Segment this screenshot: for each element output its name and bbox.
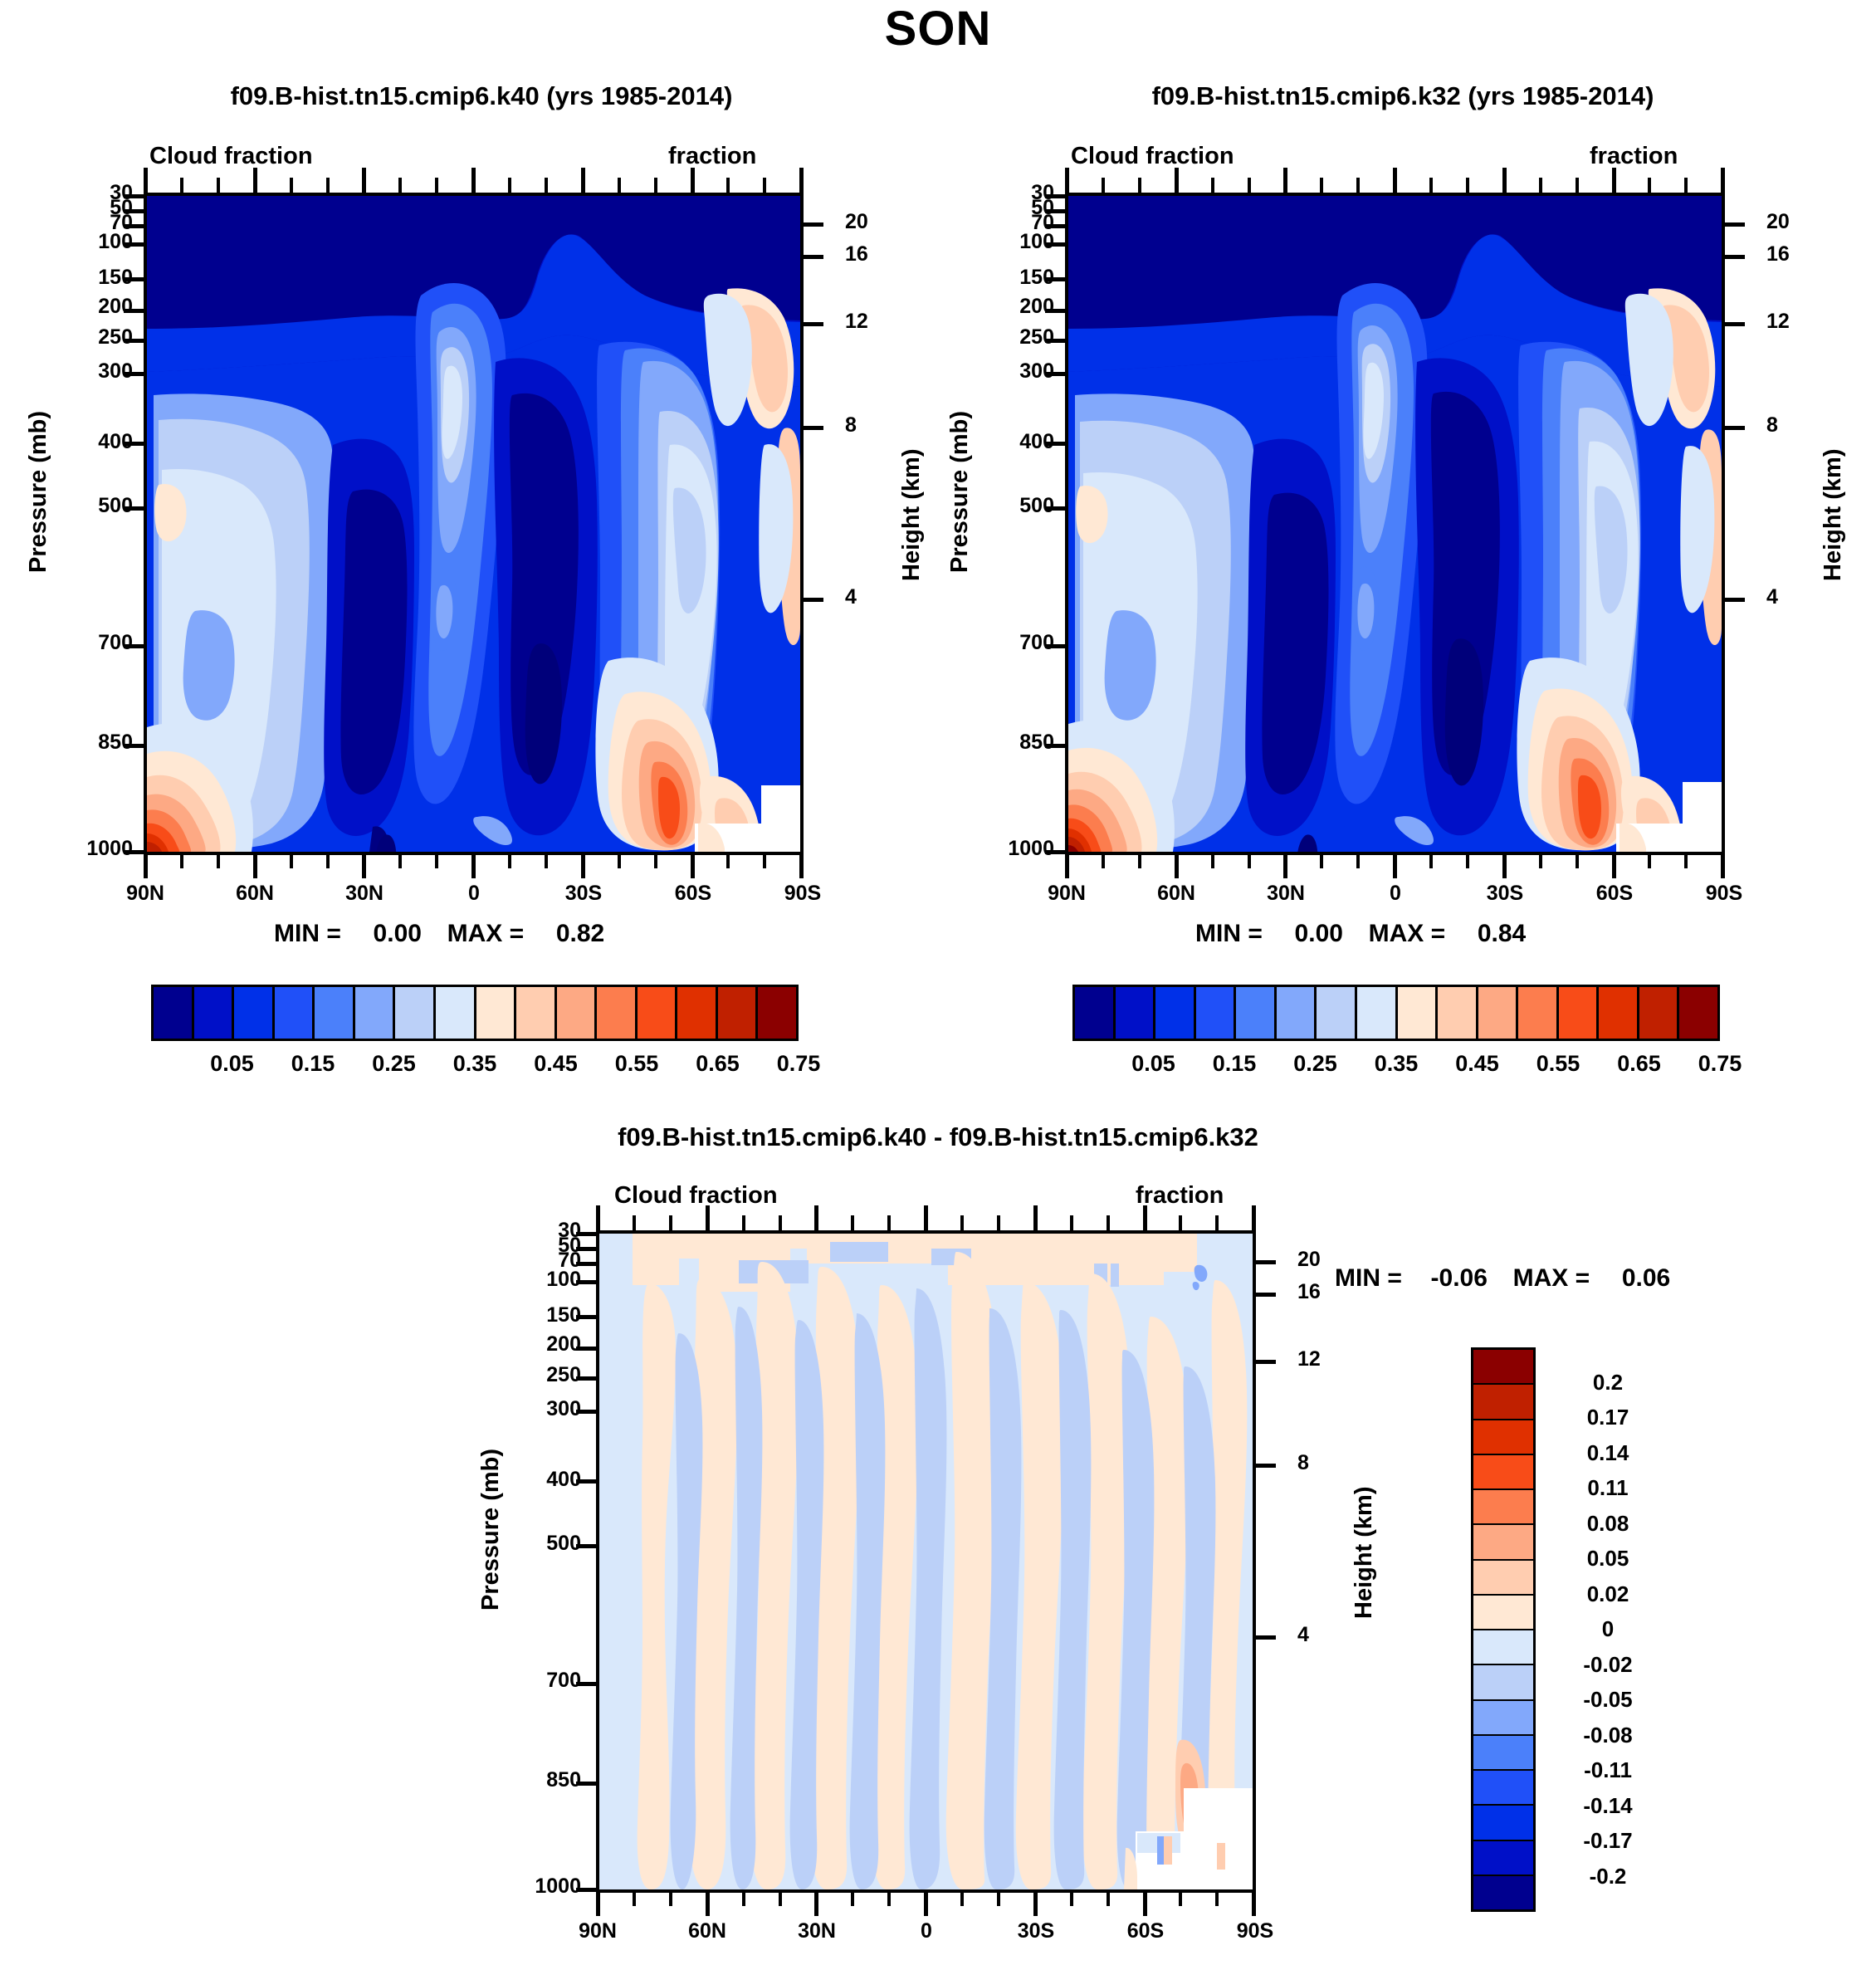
axis-tick (1356, 178, 1360, 193)
page-title: SON (0, 3, 1876, 55)
axis-tick (435, 178, 438, 193)
min-value-left: 0.00 (374, 920, 422, 947)
colorbar-cell (1473, 1420, 1533, 1455)
x-tick-60N-right: 60N (1131, 882, 1222, 906)
colorbar-cell (154, 987, 194, 1039)
axis-tick (596, 1893, 599, 1906)
x-tick-90N-diff: 90N (552, 1919, 643, 1943)
axis-tick (1466, 855, 1469, 868)
axis-tick (1175, 178, 1178, 193)
axis-tick (180, 855, 183, 868)
axis-tick (1283, 168, 1287, 193)
axis-tick (618, 178, 621, 193)
contour-plot-diff (596, 1230, 1256, 1893)
axis-tick (1065, 855, 1069, 878)
y-tick-250-diff: 250 (498, 1363, 581, 1387)
variable-label-right: Cloud fraction (1071, 143, 1234, 170)
axis-tick (545, 178, 548, 193)
axis-tick (1256, 1260, 1276, 1264)
axis-tick (799, 855, 803, 868)
colorbar-cell (758, 987, 796, 1039)
axis-tick (1648, 178, 1651, 193)
colorbar-cell (1357, 987, 1398, 1039)
axis-tick (1143, 1893, 1146, 1906)
axis-tick (814, 1893, 818, 1906)
units-label-diff: fraction (1136, 1182, 1224, 1210)
axis-tick (1033, 1893, 1037, 1906)
axis-tick (1070, 1893, 1073, 1906)
axis-tick (290, 178, 293, 193)
colorbar-cell (315, 987, 355, 1039)
axis-tick (253, 178, 256, 193)
y2-tick-20-diff: 20 (1297, 1248, 1321, 1272)
axis-tick (1179, 1215, 1182, 1230)
colorbar-left-labels: 0.050.150.250.350.450.550.650.75 (151, 1051, 799, 1079)
axis-tick (1175, 855, 1178, 868)
axis-tick (1256, 1464, 1276, 1468)
colorbar-cell (718, 987, 759, 1039)
axis-tick (1725, 598, 1745, 602)
units-label-left: fraction (668, 143, 756, 170)
panel-title-left: f09.B-hist.tn15.cmip6.k40 (yrs 1985-2014… (33, 81, 930, 111)
colorbar-cell (234, 987, 275, 1039)
colorbar-cell (557, 987, 598, 1039)
colorbar-cell (1473, 1806, 1533, 1840)
colorbar-cell (1236, 987, 1277, 1039)
axis-tick (1502, 855, 1506, 868)
colorbar-cell (1473, 1490, 1533, 1525)
axis-tick (960, 1893, 964, 1906)
axis-tick (804, 426, 823, 430)
colorbar-cell (1478, 987, 1519, 1039)
max-value-left: 0.82 (556, 920, 604, 947)
axis-tick (471, 855, 475, 868)
colorbar-cell (638, 987, 678, 1039)
axis-tick (1175, 855, 1179, 878)
axis-tick (1612, 168, 1616, 193)
axis-tick (742, 1215, 745, 1230)
axis-tick (1648, 855, 1651, 868)
y-tick-400-left: 400 (50, 430, 133, 454)
y2-tick-16-left: 16 (845, 242, 868, 266)
axis-tick (471, 178, 475, 193)
colorbar-cell (1599, 987, 1639, 1039)
axis-tick (581, 855, 585, 878)
axis-tick (1502, 178, 1506, 193)
axis-tick (1721, 855, 1724, 868)
axis-tick (1065, 178, 1068, 193)
axis-tick (1033, 1215, 1037, 1230)
axis-tick (1393, 855, 1397, 878)
y-tick-700-left: 700 (50, 631, 133, 655)
max-value-right: 0.84 (1478, 920, 1526, 947)
axis-tick (1356, 855, 1360, 868)
colorbar-cell (1473, 1455, 1533, 1490)
colorbar-right-labels: 0.050.150.250.350.450.550.650.75 (1072, 1051, 1720, 1079)
colorbar-tick-label: -0.02 (1546, 1652, 1670, 1678)
axis-tick (398, 178, 402, 193)
axis-tick (1256, 1293, 1276, 1297)
axis-tick (1070, 1215, 1073, 1230)
axis-tick (581, 178, 584, 193)
axis-tick (144, 168, 148, 193)
colorbar-cell (355, 987, 396, 1039)
colorbar-cell (516, 987, 557, 1039)
axis-tick (804, 322, 823, 326)
axis-tick (814, 1215, 818, 1230)
panel-title-right: f09.B-hist.tn15.cmip6.k32 (yrs 1985-2014… (955, 81, 1851, 111)
colorbar-cell (436, 987, 476, 1039)
axis-tick (471, 168, 476, 193)
axis-tick (1215, 1215, 1219, 1230)
y-tick-1000-right: 1000 (961, 837, 1054, 861)
axis-tick (924, 1205, 928, 1230)
axis-tick (1143, 1215, 1146, 1230)
y2-tick-8-right: 8 (1766, 413, 1778, 437)
y-tick-150-diff: 150 (498, 1303, 581, 1327)
y2-tick-20-right: 20 (1766, 210, 1790, 234)
colorbar-cell (1116, 987, 1156, 1039)
axis-tick (997, 1893, 1000, 1906)
axis-tick (654, 178, 657, 193)
min-label-diff: MIN = (1335, 1264, 1402, 1292)
axis-tick (799, 178, 803, 193)
axis-tick (1033, 1893, 1038, 1916)
axis-tick (887, 1215, 891, 1230)
y2-tick-20-left: 20 (845, 210, 868, 234)
x-tick-90S-right: 90S (1678, 882, 1770, 906)
colorbar-tick-label: -0.2 (1546, 1864, 1670, 1889)
colorbar-tick-label: 0.02 (1546, 1581, 1670, 1607)
y-tick-500-left: 500 (50, 494, 133, 518)
axis-tick (581, 855, 584, 868)
contour-canvas-right (1068, 196, 1722, 852)
colorbar-tick-label: 0.14 (1546, 1440, 1670, 1466)
axis-tick (1725, 426, 1745, 430)
y-axis-title-right: Pressure (mb) (946, 411, 974, 573)
axis-tick (1429, 178, 1433, 193)
axis-tick (1248, 855, 1251, 868)
max-label-left: MAX = (447, 920, 525, 947)
colorbar-cell (1473, 1350, 1533, 1385)
y-tick-250-right: 250 (971, 325, 1054, 349)
colorbar-tick-label: -0.11 (1546, 1757, 1670, 1783)
axis-tick (1102, 178, 1105, 193)
axis-tick (654, 855, 657, 868)
axis-tick (596, 1215, 599, 1230)
axis-tick (1539, 178, 1542, 193)
x-tick-30S-right: 30S (1459, 882, 1551, 906)
axis-tick (851, 1215, 854, 1230)
x-tick-90N-left: 90N (100, 882, 191, 906)
colorbar-left[interactable] (151, 985, 799, 1041)
x-tick-30N-right: 30N (1240, 882, 1331, 906)
y2-tick-8-left: 8 (845, 413, 857, 437)
x-tick-60S-left: 60S (647, 882, 739, 906)
axis-tick (1393, 178, 1396, 193)
x-tick-60S-right: 60S (1569, 882, 1660, 906)
y-tick-400-right: 400 (971, 430, 1054, 454)
colorbar-cell (1473, 1736, 1533, 1771)
colorbar-tick-label: 0.11 (1546, 1475, 1670, 1501)
axis-tick (1320, 855, 1323, 868)
axis-tick (726, 178, 730, 193)
axis-tick (1065, 168, 1069, 193)
axis-tick (779, 1893, 782, 1906)
colorbar-cell (395, 987, 436, 1039)
colorbar-cell (1473, 1385, 1533, 1420)
y-tick-500-right: 500 (971, 494, 1054, 518)
colorbar-cell (1518, 987, 1559, 1039)
y-tick-300-diff: 300 (498, 1397, 581, 1421)
colorbar-cell (1473, 1841, 1533, 1876)
colorbar-cell (1196, 987, 1237, 1039)
colorbar-cell (1473, 1876, 1533, 1909)
axis-tick (1612, 855, 1615, 868)
axis-tick (1576, 178, 1579, 193)
y-tick-700-right: 700 (971, 631, 1054, 655)
colorbar-cell (275, 987, 315, 1039)
colorbar-cell (1473, 1596, 1533, 1630)
colorbar-tick-label: 0.08 (1546, 1511, 1670, 1537)
y-tick-100-diff: 100 (498, 1268, 581, 1292)
axis-tick (581, 168, 585, 193)
axis-tick (1138, 178, 1141, 193)
axis-tick (1393, 168, 1397, 193)
axis-tick (706, 1893, 710, 1916)
axis-tick (742, 1893, 745, 1906)
axis-tick (1320, 178, 1323, 193)
y2-axis-title-right: Height (km) (1820, 449, 1847, 582)
axis-tick (1143, 1893, 1147, 1916)
axis-tick (924, 1215, 927, 1230)
axis-tick (1138, 855, 1141, 868)
axis-tick (362, 855, 365, 868)
x-tick-0-right: 0 (1350, 882, 1441, 906)
axis-tick (1283, 855, 1287, 878)
y-tick-100-right: 100 (971, 230, 1054, 254)
y-tick-200-right: 200 (971, 295, 1054, 319)
min-label-left: MIN = (274, 920, 341, 947)
axis-tick (1502, 855, 1507, 878)
y2-tick-4-right: 4 (1766, 585, 1778, 609)
colorbar-tick-label: -0.05 (1546, 1687, 1670, 1713)
y-tick-850-left: 850 (50, 731, 133, 755)
colorbar-tick-label: -0.14 (1546, 1793, 1670, 1819)
axis-tick (1612, 855, 1616, 878)
y-tick-1000-left: 1000 (40, 837, 133, 861)
minmax-right: MIN = 0.00 MAX = 0.84 (1195, 920, 1526, 948)
colorbar-cell (1473, 1701, 1533, 1736)
axis-tick (799, 168, 804, 193)
x-tick-30N-left: 30N (319, 882, 410, 906)
axis-tick (1502, 168, 1507, 193)
axis-tick (545, 855, 548, 868)
axis-tick (1211, 855, 1214, 868)
axis-tick (253, 855, 256, 868)
max-label-diff: MAX = (1513, 1264, 1590, 1292)
axis-tick (799, 855, 804, 878)
axis-tick (691, 855, 695, 878)
colorbar-cell (1473, 1771, 1533, 1806)
y-tick-400-diff: 400 (498, 1468, 581, 1492)
y-tick-250-left: 250 (50, 325, 133, 349)
colorbar-cell (1075, 987, 1116, 1039)
min-label-right: MIN = (1195, 920, 1263, 947)
axis-tick (726, 855, 730, 868)
colorbar-cell (1398, 987, 1439, 1039)
min-value-diff: -0.06 (1431, 1264, 1488, 1292)
axis-tick (706, 1215, 709, 1230)
axis-tick (691, 168, 695, 193)
colorbar-cell (1679, 987, 1717, 1039)
panel-title-diff: f09.B-hist.tn15.cmip6.k40 - f09.B-hist.t… (282, 1122, 1594, 1152)
colorbar-tick-label: -0.17 (1546, 1828, 1670, 1854)
axis-tick (1175, 168, 1179, 193)
contour-canvas-diff (599, 1234, 1253, 1889)
colorbar-cell (1559, 987, 1600, 1039)
axis-tick (997, 1215, 1000, 1230)
axis-tick (960, 1215, 964, 1230)
x-tick-0-left: 0 (428, 882, 520, 906)
axis-tick (1252, 1205, 1256, 1230)
y-axis-title-left: Pressure (mb) (25, 411, 52, 573)
axis-tick (1179, 1893, 1182, 1906)
colorbar-cell (597, 987, 638, 1039)
axis-tick (1539, 855, 1542, 868)
axis-tick (180, 178, 183, 193)
axis-tick (1612, 178, 1615, 193)
x-tick-90S-left: 90S (757, 882, 848, 906)
axis-tick (508, 178, 511, 193)
colorbar-diff-labels: 0.20.170.140.110.080.050.020-0.02-0.05-0… (1546, 1347, 1703, 1912)
axis-tick (1065, 855, 1068, 868)
y-tick-150-left: 150 (50, 266, 133, 290)
y-tick-300-left: 300 (50, 359, 133, 384)
colorbar-cell (1473, 1525, 1533, 1560)
axis-tick (633, 1215, 636, 1230)
y2-tick-12-diff: 12 (1297, 1347, 1321, 1371)
y2-axis-title-left: Height (km) (898, 449, 926, 582)
axis-tick (851, 1893, 854, 1906)
axis-tick (253, 855, 257, 878)
colorbar-cell (1473, 1630, 1533, 1665)
colorbar-cell (1438, 987, 1478, 1039)
units-label-right: fraction (1590, 143, 1678, 170)
axis-tick (144, 178, 147, 193)
axis-tick (596, 1205, 600, 1230)
axis-tick (253, 168, 257, 193)
y2-tick-8-diff: 8 (1297, 1451, 1309, 1475)
y2-tick-16-right: 16 (1766, 242, 1790, 266)
colorbar-tick-label: 0.2 (1546, 1370, 1670, 1396)
x-tick-0-diff: 0 (881, 1919, 972, 1943)
colorbar-tick-label: 0.75 (749, 1051, 848, 1077)
axis-tick (1283, 855, 1287, 868)
axis-tick (924, 1893, 928, 1916)
colorbar-tick-label: 0.75 (1670, 1051, 1770, 1077)
axis-tick (217, 855, 220, 868)
axis-tick (326, 178, 330, 193)
colorbar-cell (677, 987, 718, 1039)
x-tick-30N-diff: 30N (771, 1919, 862, 1943)
axis-tick (1033, 1205, 1038, 1230)
variable-label-left: Cloud fraction (149, 143, 313, 170)
axis-tick (362, 168, 366, 193)
y2-tick-4-diff: 4 (1297, 1623, 1309, 1647)
axis-tick (144, 855, 147, 868)
colorbar-diff[interactable] (1471, 1347, 1536, 1912)
axis-tick (1684, 178, 1688, 193)
x-tick-90N-right: 90N (1021, 882, 1112, 906)
colorbar-cell (1317, 987, 1357, 1039)
axis-tick (1684, 855, 1688, 868)
axis-tick (1248, 178, 1251, 193)
axis-tick (1283, 178, 1287, 193)
x-tick-30S-left: 30S (538, 882, 629, 906)
axis-tick (706, 1893, 709, 1906)
axis-tick (1107, 1893, 1110, 1906)
axis-tick (471, 855, 476, 878)
contour-plot-right (1065, 193, 1725, 855)
min-value-right: 0.00 (1295, 920, 1343, 947)
y-tick-100-left: 100 (50, 230, 133, 254)
axis-tick (362, 855, 366, 878)
axis-tick (596, 1893, 600, 1916)
y-tick-150-right: 150 (971, 266, 1054, 290)
axis-tick (1725, 322, 1745, 326)
axis-tick (435, 855, 438, 868)
colorbar-right[interactable] (1072, 985, 1720, 1041)
axis-tick (804, 598, 823, 602)
axis-tick (1252, 1893, 1255, 1906)
colorbar-cell (476, 987, 517, 1039)
axis-tick (691, 178, 694, 193)
axis-tick (887, 1893, 891, 1906)
axis-tick (633, 1893, 636, 1906)
y-tick-500-diff: 500 (498, 1532, 581, 1556)
x-tick-60N-left: 60N (209, 882, 300, 906)
y-tick-850-right: 850 (971, 731, 1054, 755)
axis-tick (669, 1893, 672, 1906)
axis-tick (1393, 855, 1396, 868)
y-tick-300-right: 300 (971, 359, 1054, 384)
axis-tick (290, 855, 293, 868)
colorbar-cell (1277, 987, 1317, 1039)
y2-axis-title-diff: Height (km) (1351, 1487, 1378, 1620)
axis-tick (1721, 168, 1725, 193)
axis-tick (1725, 222, 1745, 227)
axis-tick (804, 255, 823, 259)
axis-tick (669, 1215, 672, 1230)
axis-tick (691, 855, 694, 868)
colorbar-cell (1639, 987, 1680, 1039)
axis-tick (763, 178, 766, 193)
axis-tick (1721, 855, 1725, 878)
colorbar-tick-label: 0 (1546, 1616, 1670, 1642)
colorbar-tick-label: 0.05 (1546, 1546, 1670, 1572)
axis-tick (1256, 1635, 1276, 1640)
minmax-left: MIN = 0.00 MAX = 0.82 (274, 920, 604, 948)
y2-tick-12-left: 12 (845, 310, 868, 334)
max-label-right: MAX = (1369, 920, 1446, 947)
axis-tick (763, 855, 766, 868)
axis-tick (779, 1215, 782, 1230)
colorbar-tick-label: 0.17 (1546, 1405, 1670, 1430)
axis-tick (144, 855, 148, 878)
contour-canvas-left (147, 196, 800, 852)
axis-tick (1107, 1215, 1110, 1230)
